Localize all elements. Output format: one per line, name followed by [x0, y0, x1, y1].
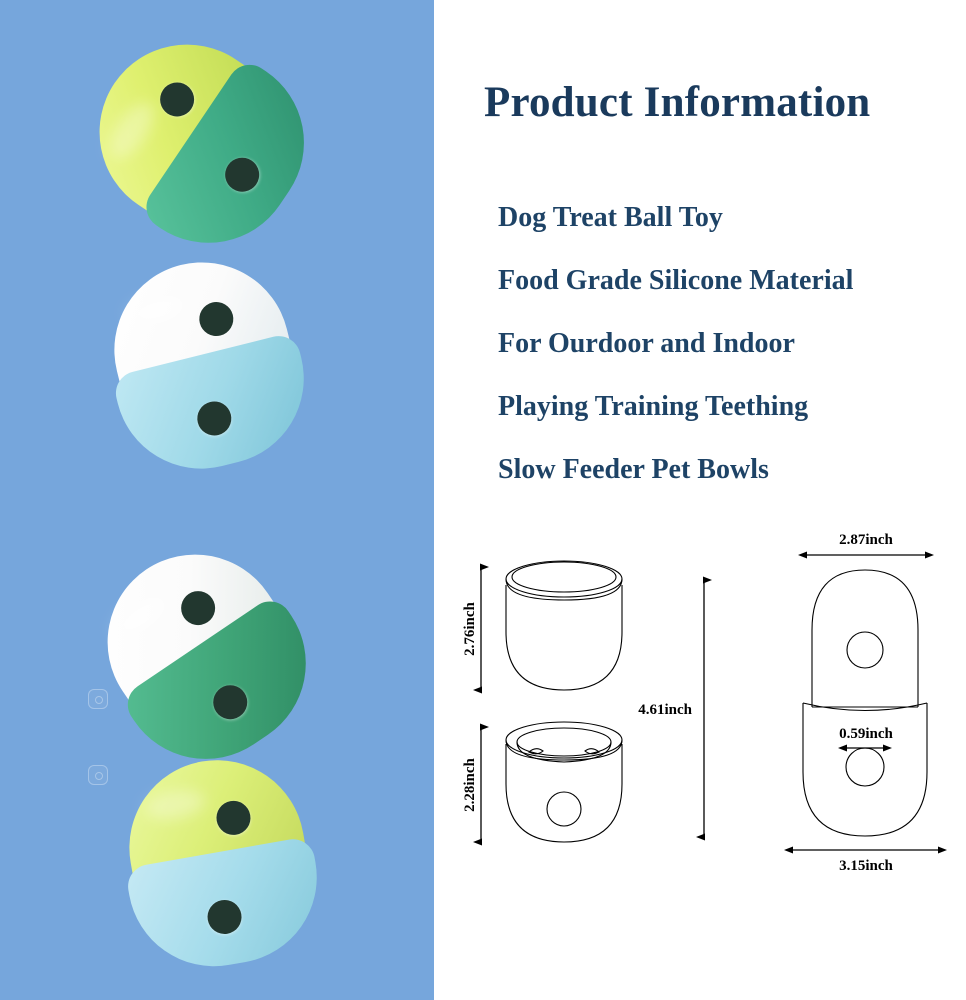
product-photo-panel — [0, 0, 434, 1000]
dimension-diagrams: 2.76inch — [434, 522, 966, 922]
bubble-watermark-icon — [88, 765, 108, 785]
feature-item: Playing Training Teething — [498, 375, 966, 438]
feature-item: Food Grade Silicone Material — [498, 249, 966, 312]
page-title: Product Information — [484, 78, 954, 127]
product-photo-toy-lime-blue — [116, 746, 324, 978]
product-photo-toy-white-blue — [96, 244, 315, 485]
product-photo-toy-green-lime — [66, 11, 334, 271]
assembled-bottom-width-label: 3.15inch — [839, 858, 893, 874]
upper-bowl-height-label: 2.76inch — [462, 601, 478, 655]
feature-item: Slow Feeder Pet Bowls — [498, 438, 966, 501]
feature-list: Dog Treat Ball Toy Food Grade Silicone M… — [498, 186, 966, 501]
assembled-hole-diameter-dimension: 0.59inch — [839, 726, 893, 748]
bubble-watermark-icon — [88, 689, 108, 709]
upper-bowl-height-dimension: 2.76inch — [462, 567, 481, 690]
product-information-page: Product Information Dog Treat Ball Toy F… — [0, 0, 966, 1000]
assembled-top-width-dimension: 2.87inch — [806, 532, 926, 555]
assembled-top-width-label: 2.87inch — [839, 532, 893, 548]
dimension-diagram-svg: 2.76inch — [434, 522, 966, 922]
lower-bowl-height-dimension: 2.28inch — [462, 727, 481, 842]
assembled-toy-drawing — [803, 570, 927, 836]
feature-item: Dog Treat Ball Toy — [498, 186, 966, 249]
assembled-total-height-dimension: 4.61inch — [638, 580, 704, 837]
product-info-content: Product Information Dog Treat Ball Toy F… — [434, 0, 966, 1000]
assembled-hole-diameter-label: 0.59inch — [839, 726, 893, 742]
lower-bowl-height-label: 2.28inch — [462, 757, 478, 811]
feature-item: For Ourdoor and Indoor — [498, 312, 966, 375]
upper-bowl-drawing — [506, 561, 622, 690]
assembled-total-height-label: 4.61inch — [638, 702, 692, 718]
assembled-bottom-width-dimension: 3.15inch — [792, 850, 939, 874]
lower-bowl-drawing — [506, 722, 622, 842]
product-photo-toy-white-green — [74, 521, 334, 789]
